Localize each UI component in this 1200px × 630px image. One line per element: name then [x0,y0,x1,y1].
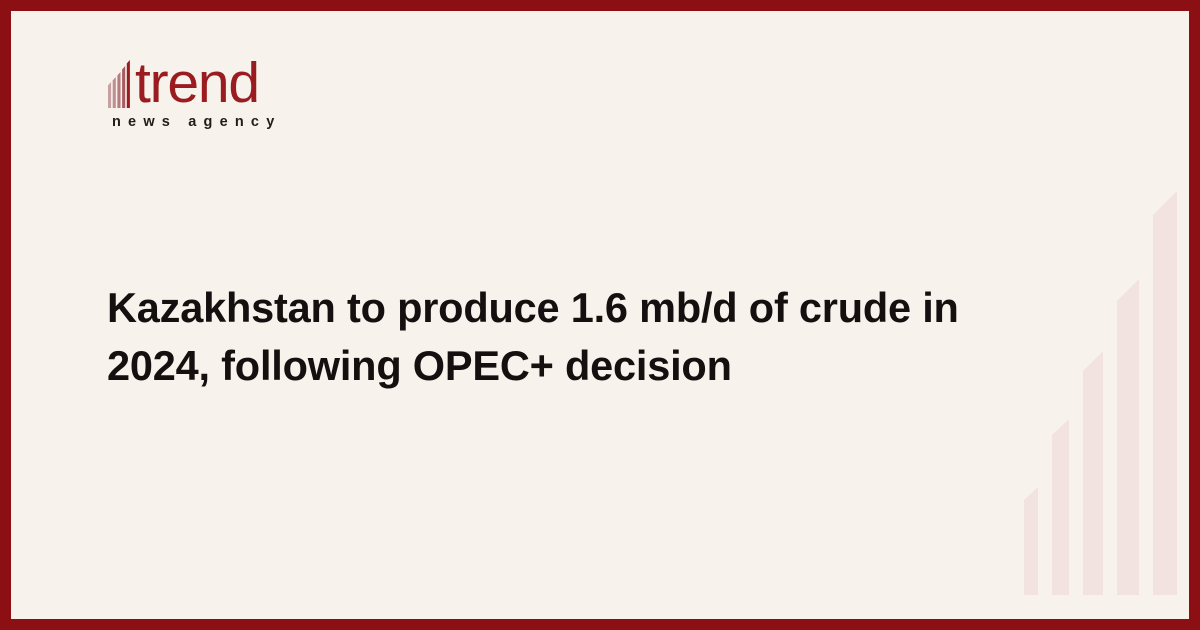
watermark-bar-1 [1024,487,1038,595]
logo-bar-4 [122,66,125,108]
logo-bar-5 [127,60,130,108]
watermark-bar-4 [1117,279,1139,595]
logo-bar-3 [117,72,120,108]
watermark-bar-group [1024,191,1177,595]
logo-bar-1 [108,82,111,108]
ascending-bars-icon [108,58,134,108]
logo-mark-row: trend [108,52,428,108]
ascending-bars-watermark-icon [1018,165,1178,595]
trend-logo[interactable]: trend news agency [108,52,428,130]
logo-bar-2 [113,77,116,108]
social-share-card: trend news agency Kazakhstan to produce … [0,0,1200,630]
watermark-bar-5 [1153,191,1177,595]
logo-bar-group [108,60,130,108]
logo-tagline: news agency [112,114,428,130]
watermark-bar-3 [1083,351,1103,595]
headline: Kazakhstan to produce 1.6 mb/d of crude … [107,279,1017,395]
logo-wordmark: trend [135,55,259,111]
watermark-bar-2 [1052,419,1069,595]
